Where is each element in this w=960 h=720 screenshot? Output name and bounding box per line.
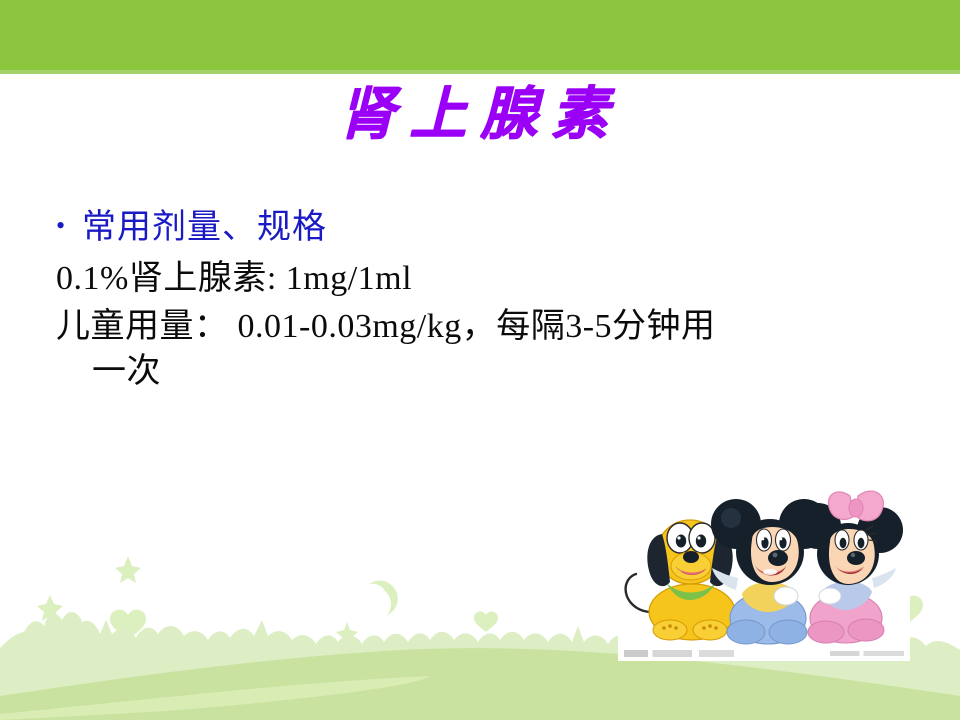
text-line-pediatric-dose: 儿童用量： 0.01-0.03mg/kg，每隔3-5分钟用 一次 [56,304,928,395]
bullet-item-label: 常用剂量、规格 [82,206,928,250]
text-line-concentration: 0.1%肾上腺素: 1mg/1ml [56,256,928,302]
content-body: • 常用剂量、规格 0.1%肾上腺素: 1mg/1ml 儿童用量： 0.01-0… [56,206,928,397]
bullet-point-icon: • [56,206,82,246]
top-green-banner [0,0,960,74]
bullet-item-dosage-spec: • 常用剂量、规格 [56,206,928,250]
slide-canvas: 肾上腺素 • 常用剂量、规格 0.1%肾上腺素: 1mg/1ml 儿童用量： 0… [0,0,960,720]
text-line-pediatric-dose-part1: 儿童用量： 0.01-0.03mg/kg，每隔3-5分钟用 [56,308,716,345]
hill-silhouette-highlight [0,676,430,720]
text-line-pediatric-dose-part2: 一次 [56,349,928,395]
clipart-watermark-right [830,651,904,656]
clipart-watermark-left [624,650,734,657]
page-title: 肾上腺素 [0,84,960,144]
clipart-image-baby-disney [618,478,910,661]
top-banner-edge [0,70,960,74]
